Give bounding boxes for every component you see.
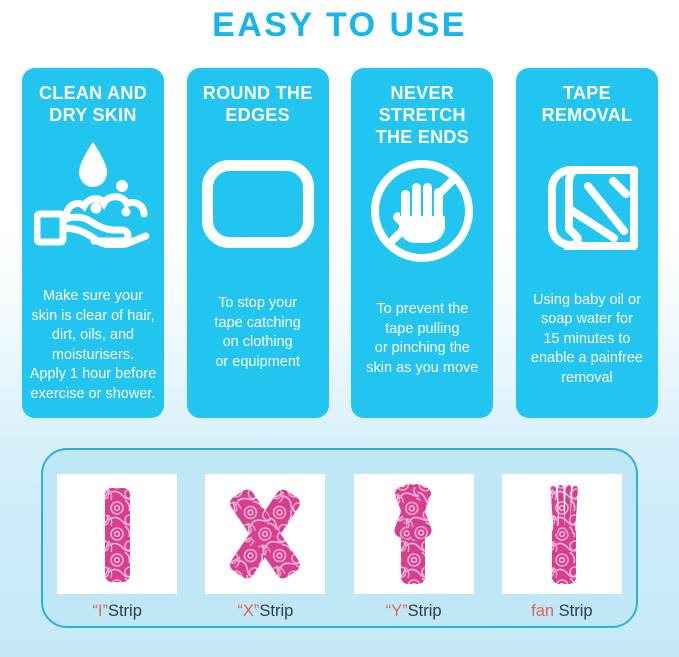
card-title: CLEAN AND DRY SKIN xyxy=(39,82,147,126)
strip-label-accent: fan xyxy=(531,602,554,620)
card-body: To stop your tape catching on clothing o… xyxy=(215,294,301,376)
card-title: ROUND THE EDGES xyxy=(203,82,313,126)
x-strip-graphic xyxy=(205,474,325,594)
card-round-the-edges: ROUND THE EDGES To stop your tape catchi… xyxy=(187,68,329,418)
strip-label-suffix: Strip xyxy=(554,602,593,620)
strip-item-i: “I”Strip xyxy=(56,474,178,621)
strip-label: “X”Strip xyxy=(237,602,293,621)
card-tape-removal: TAPE REMOVAL Using baby oil or soap wate… xyxy=(516,68,658,418)
page-title: EASY TO USE xyxy=(0,0,679,47)
strip-label-accent: “Y” xyxy=(386,602,408,620)
strip-image-box xyxy=(502,474,622,594)
card-body: To prevent the tape pulling or pinching … xyxy=(366,300,478,382)
fan-strip-graphic xyxy=(502,474,622,594)
i-strip-graphic xyxy=(57,474,177,594)
strip-label: “I”Strip xyxy=(92,602,142,621)
card-body: Make sure your skin is clear of hair, di… xyxy=(30,287,157,408)
strip-item-x: “X”Strip xyxy=(204,474,326,621)
strip-label-suffix: Strip xyxy=(259,602,293,620)
card-title: TAPE REMOVAL xyxy=(542,82,633,126)
strip-label: “Y”Strip xyxy=(386,602,442,621)
strip-label-accent: “X” xyxy=(237,602,259,620)
washing-hands-icon xyxy=(34,136,152,248)
strip-label: fan Strip xyxy=(531,602,592,621)
strip-image-box xyxy=(205,474,325,594)
strip-item-fan: fan Strip xyxy=(501,474,623,621)
strip-item-y: “Y”Strip xyxy=(353,474,475,621)
instruction-cards-row: CLEAN AND DRY SKIN Make sure your skin i… xyxy=(22,68,658,418)
card-body: Using baby oil or soap water for 15 minu… xyxy=(531,291,643,393)
rounded-rectangle-icon xyxy=(202,160,314,248)
strip-label-suffix: Strip xyxy=(408,602,442,620)
y-strip-graphic xyxy=(354,474,474,594)
no-stretch-hand-icon xyxy=(367,156,477,266)
strip-types-panel: “I”Strip “X”Strip “Y”Strip xyxy=(41,448,638,628)
strip-label-suffix: Strip xyxy=(108,602,142,620)
card-clean-and-dry-skin: CLEAN AND DRY SKIN Make sure your skin i… xyxy=(22,68,164,418)
strip-image-box xyxy=(354,474,474,594)
peeling-tape-icon xyxy=(531,148,643,258)
strip-image-box xyxy=(57,474,177,594)
card-title: NEVER STRETCH THE ENDS xyxy=(376,82,469,148)
strip-label-accent: “I” xyxy=(92,602,108,620)
card-never-stretch-the-ends: NEVER STRETCH THE ENDS To prevent xyxy=(351,68,493,418)
